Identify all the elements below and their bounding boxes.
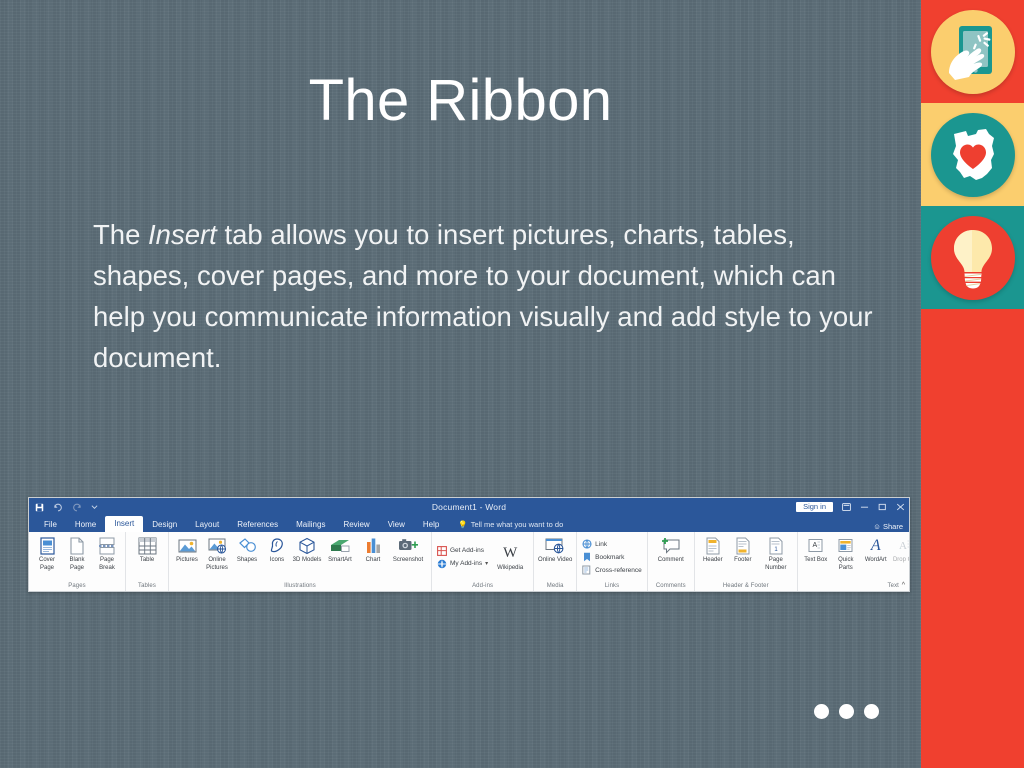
ribbon-group-comments: Comment Comments (648, 532, 695, 591)
wordart-icon: A (871, 535, 881, 556)
share-person-icon: ☺ (873, 522, 881, 531)
table-icon (138, 535, 157, 556)
online-video-label: Online Video (538, 557, 572, 565)
tab-mailings[interactable]: Mailings (287, 518, 334, 532)
3d-models-button[interactable]: 3D Models (292, 534, 322, 565)
online-pictures-icon (208, 535, 227, 556)
body-paragraph: The Insert tab allows you to insert pict… (93, 214, 873, 378)
quick-parts-icon (838, 535, 853, 556)
link-icon (582, 539, 592, 549)
tab-insert[interactable]: Insert (105, 516, 143, 532)
group-label-links: Links (580, 582, 644, 591)
share-label: Share (883, 522, 903, 531)
page-break-button[interactable]: Page Break (92, 534, 122, 572)
bookmark-button[interactable]: Bookmark (582, 551, 642, 564)
group-label-pages: Pages (32, 582, 122, 591)
ribbon-group-tables: Table Tables (126, 532, 169, 591)
my-addins-button[interactable]: My Add-ins ▾ (437, 557, 488, 570)
screenshot-icon (398, 535, 418, 556)
rail-tile-ohio-heart (921, 103, 1024, 206)
icons-label: Icons (270, 557, 284, 565)
my-addins-label: My Add-ins (450, 560, 482, 567)
3d-models-label: 3D Models (293, 557, 322, 565)
tell-me-search[interactable]: 💡Tell me what you want to do (458, 518, 563, 532)
shapes-icon (238, 535, 257, 556)
collapse-ribbon-button[interactable]: ^ (902, 582, 905, 589)
body-text-before: The (93, 219, 148, 250)
page-number-icon: 1 (769, 535, 783, 556)
word-title-bar: Document1 - Word Sign in (29, 498, 909, 516)
ribbon-group-pages: Cover Page Blank Page Page Break (29, 532, 126, 591)
drop-cap-button[interactable]: A Drop Cap (891, 534, 910, 565)
ribbon-group-illustrations: Pictures Online Pictures Shapes (169, 532, 432, 591)
drop-cap-label: Drop Cap (893, 557, 910, 565)
cross-reference-label: Cross-reference (595, 567, 642, 574)
footer-label: Footer (734, 557, 751, 565)
get-addins-button[interactable]: Get Add-ins (437, 544, 488, 557)
ribbon-group-header-footer: Header Footer 1 Page Number (695, 532, 798, 591)
window-controls[interactable]: Sign in (796, 498, 905, 516)
smartart-label: SmartArt (328, 557, 352, 565)
wikipedia-label: Wikipedia (497, 565, 523, 573)
rail-tile-lightbulb (921, 206, 1024, 309)
group-label-media: Media (537, 582, 573, 591)
page-break-label: Page Break (92, 557, 122, 572)
word-ribbon-screenshot: Document1 - Word Sign in File Ho (28, 497, 910, 592)
blank-page-button[interactable]: Blank Page (62, 534, 92, 572)
link-label: Link (595, 541, 607, 548)
page-number-button[interactable]: 1 Page Number (758, 534, 794, 572)
tab-layout[interactable]: Layout (186, 518, 228, 532)
new-comment-label: Comment (658, 557, 684, 565)
tablet-touch-icon (945, 23, 1001, 81)
icons-icon (268, 535, 286, 556)
group-label-header-footer: Header & Footer (698, 582, 794, 591)
my-addins-icon (437, 559, 447, 569)
online-video-icon (545, 535, 565, 556)
new-comment-button[interactable]: Comment (651, 534, 691, 565)
tab-home[interactable]: Home (66, 518, 105, 532)
smartart-icon (330, 535, 350, 556)
screenshot-label: Screenshot (393, 557, 423, 565)
minimize-icon[interactable] (860, 503, 869, 511)
ribbon-group-addins: Get Add-ins My Add-ins ▾ W Wikipedia (432, 532, 534, 591)
blank-page-label: Blank Page (62, 557, 92, 572)
document-title: Document1 - Word (29, 498, 909, 516)
ribbon-display-options-icon[interactable] (842, 503, 851, 511)
group-label-tables: Tables (129, 582, 165, 591)
table-label: Table (140, 557, 154, 565)
get-addins-icon (437, 546, 447, 556)
cover-page-icon (40, 535, 55, 556)
wordart-label: WordArt (865, 557, 887, 565)
quick-parts-button[interactable]: Quick Parts (831, 534, 861, 572)
cross-reference-icon (582, 565, 592, 575)
ribbon-content: Cover Page Blank Page Page Break (29, 532, 909, 591)
tab-help[interactable]: Help (414, 518, 448, 532)
quick-parts-label: Quick Parts (831, 557, 861, 572)
text-box-icon: A (808, 535, 823, 556)
slide-progress-dots (814, 704, 879, 719)
bookmark-label: Bookmark (595, 554, 624, 561)
close-icon[interactable] (896, 503, 905, 511)
ribbon-tab-bar[interactable]: File Home Insert Design Layout Reference… (29, 516, 909, 532)
ohio-heart-icon (942, 124, 1004, 186)
pictures-button[interactable]: Pictures (172, 534, 202, 565)
dot-1 (814, 704, 829, 719)
header-icon (706, 535, 720, 556)
decorative-icon-rail (921, 0, 1024, 768)
ribbon-group-links: Link Bookmark Cross-refere (577, 532, 648, 591)
tab-review[interactable]: Review (334, 518, 378, 532)
tab-design[interactable]: Design (143, 518, 186, 532)
pictures-icon (178, 535, 197, 556)
svg-text:A: A (813, 542, 818, 549)
share-button[interactable]: ☺ Share (873, 522, 903, 531)
bookmark-icon (582, 552, 592, 562)
blank-page-icon (70, 535, 84, 556)
group-label-illustrations: Illustrations (172, 582, 428, 591)
shapes-label: Shapes (237, 557, 257, 565)
online-pictures-label: Online Pictures (202, 557, 232, 572)
screenshot-button[interactable]: Screenshot (388, 534, 428, 565)
rail-tile-tablet (921, 0, 1024, 103)
chart-icon (365, 535, 382, 556)
tab-file[interactable]: File (35, 518, 66, 532)
page-title: The Ribbon (0, 72, 921, 130)
chart-button[interactable]: Chart (358, 534, 388, 565)
cover-page-label: Cover Page (32, 557, 62, 572)
page-number-label: Page Number (758, 557, 794, 572)
group-label-comments: Comments (651, 582, 691, 591)
dot-3 (864, 704, 879, 719)
addins-small-buttons: Get Add-ins My Add-ins ▾ (435, 534, 490, 580)
footer-icon (736, 535, 750, 556)
footer-button[interactable]: Footer (728, 534, 758, 565)
3d-models-icon (298, 535, 316, 556)
header-label: Header (703, 557, 723, 565)
slide: The Ribbon The Insert tab allows you to … (0, 0, 1024, 768)
lightbulb-icon (947, 227, 999, 289)
chart-label: Chart (366, 557, 381, 565)
sign-in-button[interactable]: Sign in (796, 502, 833, 513)
table-button[interactable]: Table (129, 534, 165, 565)
icons-button[interactable]: Icons (262, 534, 292, 565)
cover-page-button[interactable]: Cover Page (32, 534, 62, 572)
smartart-button[interactable]: SmartArt (322, 534, 358, 565)
page-break-icon (99, 535, 115, 556)
pictures-label: Pictures (176, 557, 198, 565)
ribbon-group-media: Online Video Media (534, 532, 577, 591)
my-addins-dropdown-icon[interactable]: ▾ (485, 560, 488, 567)
tab-view[interactable]: View (379, 518, 414, 532)
group-label-addins: Add-ins (435, 582, 530, 591)
header-button[interactable]: Header (698, 534, 728, 565)
body-text-emphasis: Insert (148, 219, 217, 250)
new-comment-icon (661, 535, 681, 556)
restore-icon[interactable] (878, 503, 887, 511)
svg-text:A: A (899, 540, 907, 552)
ribbon-group-text: A Text Box Quick Parts A WordArt (798, 532, 910, 591)
online-pictures-button[interactable]: Online Pictures (202, 534, 232, 572)
dot-2 (839, 704, 854, 719)
wikipedia-button[interactable]: W Wikipedia (490, 542, 530, 573)
group-label-text: Text (801, 582, 910, 591)
links-small-buttons: Link Bookmark Cross-refere (580, 534, 644, 580)
drop-cap-icon: A (898, 535, 910, 556)
text-box-button[interactable]: A Text Box (801, 534, 831, 565)
lightbulb-tellme-icon: 💡 (458, 520, 467, 529)
wordart-button[interactable]: A WordArt (861, 534, 891, 565)
online-video-button[interactable]: Online Video (537, 534, 573, 565)
get-addins-label: Get Add-ins (450, 547, 484, 554)
tab-references[interactable]: References (228, 518, 287, 532)
wikipedia-icon: W (503, 543, 517, 564)
text-box-label: Text Box (804, 557, 827, 565)
cross-reference-button[interactable]: Cross-reference (582, 564, 642, 577)
link-button[interactable]: Link (582, 538, 642, 551)
shapes-button[interactable]: Shapes (232, 534, 262, 565)
tell-me-label: Tell me what you want to do (471, 520, 564, 529)
